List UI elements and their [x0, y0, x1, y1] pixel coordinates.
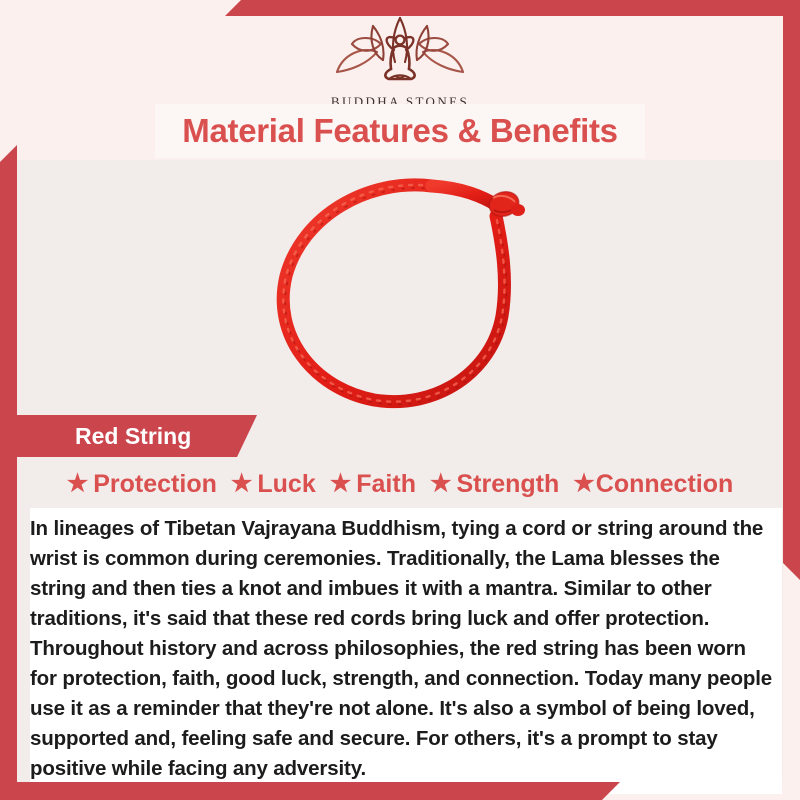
lotus-meditation-icon	[325, 14, 475, 91]
page-title: Material Features & Benefits	[182, 112, 617, 150]
description-text: In lineages of Tibetan Vajrayana Buddhis…	[30, 514, 782, 784]
infographic-page: BUDDHA STONES Material Features & Benefi…	[0, 0, 800, 800]
feature-item-protection: ★ Protection	[60, 470, 224, 499]
feature-item-connection: ★ Connection	[566, 470, 740, 499]
star-icon: ★	[330, 472, 352, 496]
star-icon: ★	[573, 472, 595, 496]
feature-label: Strength	[456, 470, 559, 499]
feature-item-luck: ★ Luck	[224, 470, 323, 499]
title-banner: Material Features & Benefits	[155, 104, 645, 158]
feature-list: ★ Protection ★ Luck ★ Faith ★ Strength ★…	[17, 462, 783, 506]
feature-label: Faith	[356, 470, 416, 499]
brand-logo: BUDDHA STONES	[325, 14, 475, 110]
material-label-banner: Red String	[17, 415, 257, 457]
decor-bar-top	[225, 0, 800, 16]
feature-label: Connection	[596, 470, 734, 499]
description-block: In lineages of Tibetan Vajrayana Buddhis…	[30, 508, 782, 794]
feature-item-faith: ★ Faith	[323, 470, 423, 499]
decor-bar-bottom	[0, 782, 620, 800]
feature-label: Luck	[257, 470, 315, 499]
star-icon: ★	[430, 472, 452, 496]
red-braided-string-bracelet-icon	[250, 158, 550, 420]
material-label: Red String	[17, 423, 191, 450]
feature-label: Protection	[93, 470, 217, 499]
decor-bar-right	[783, 0, 800, 580]
decor-bar-left	[0, 145, 17, 800]
star-icon: ★	[231, 472, 253, 496]
product-image	[17, 160, 783, 418]
feature-item-strength: ★ Strength	[423, 470, 566, 499]
star-icon: ★	[67, 472, 89, 496]
